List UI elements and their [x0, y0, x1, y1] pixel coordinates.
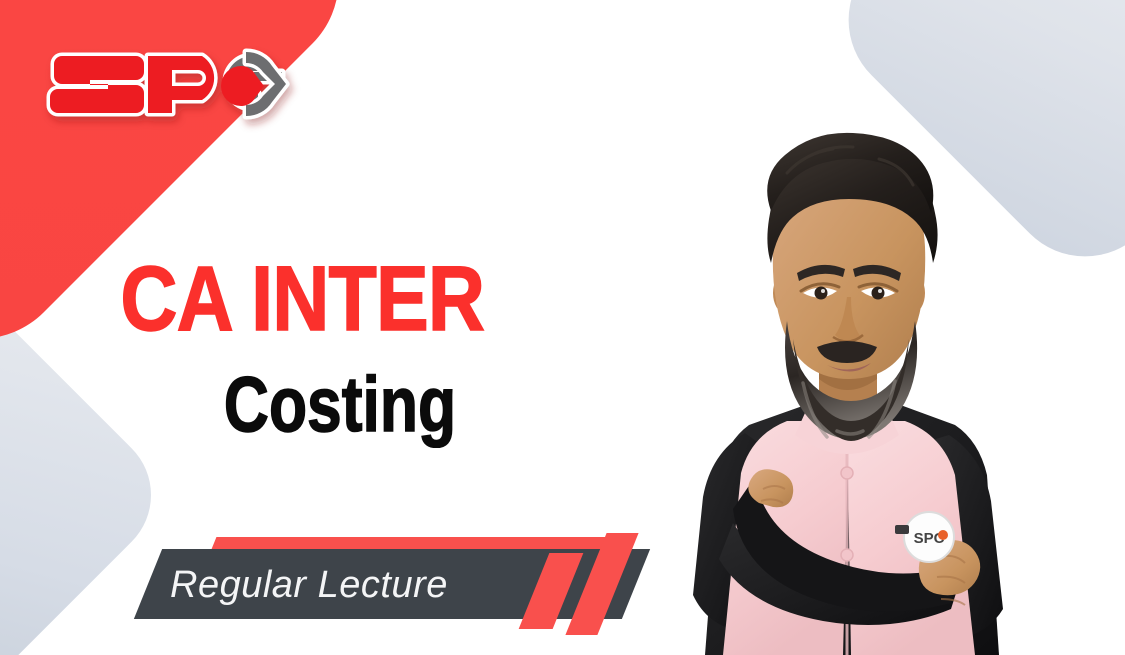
poster-canvas: CA INTER Costing Regular Lecture: [0, 0, 1125, 655]
spc-badge-icon: SPC: [904, 512, 954, 562]
spc-logo-icon[interactable]: [40, 36, 302, 132]
subject-title: Costing: [68, 343, 612, 441]
headline-block: CA INTER Costing: [0, 255, 680, 441]
instructor-portrait-icon: SPC: [637, 125, 1067, 655]
ribbon-label: Regular Lecture: [170, 557, 590, 613]
page-title: CA INTER: [0, 255, 585, 343]
